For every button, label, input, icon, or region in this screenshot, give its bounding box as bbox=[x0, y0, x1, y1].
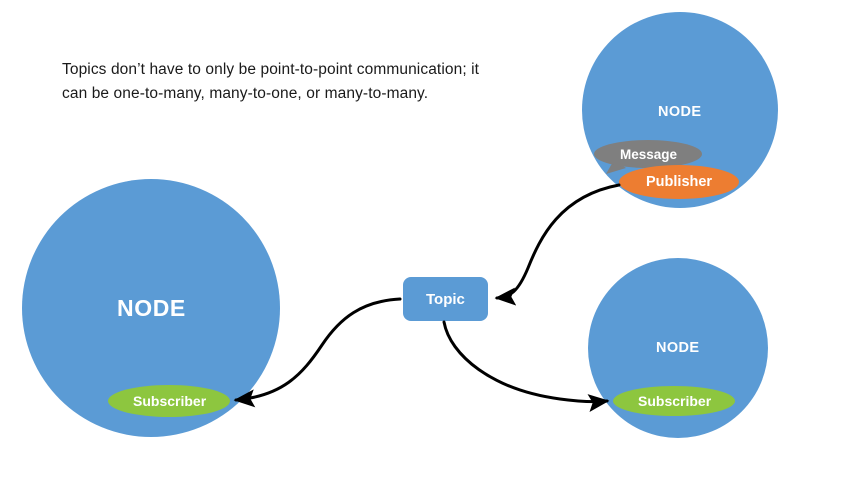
arrow-publisher-to-topic bbox=[497, 185, 619, 298]
arrow-topic-to-subscriber-bottom-right bbox=[444, 322, 607, 402]
caption-text: Topics don’t have to only be point-to-po… bbox=[62, 58, 482, 105]
topic-box-shape[interactable] bbox=[403, 277, 488, 321]
subscriber-ellipse-left-shape[interactable] bbox=[108, 385, 230, 417]
publisher-ellipse-shape[interactable] bbox=[619, 165, 739, 199]
subscriber-ellipse-bottom-right-shape[interactable] bbox=[613, 386, 735, 416]
slide-canvas: Topics don’t have to only be point-to-po… bbox=[0, 0, 854, 480]
